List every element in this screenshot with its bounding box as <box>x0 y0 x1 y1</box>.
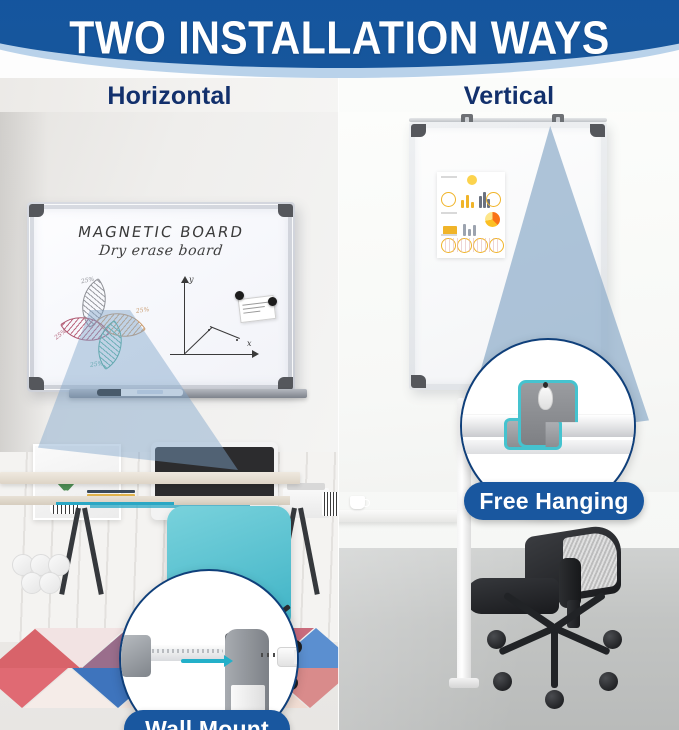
graph-x-label: x <box>247 339 252 348</box>
rail-end-cap <box>121 635 151 677</box>
corner-bracket <box>411 375 426 388</box>
subtitle-horizontal: Horizontal <box>0 82 339 111</box>
sun-graphic-icon <box>467 175 477 185</box>
magnet-icon <box>235 291 244 300</box>
graph-x-arrow-icon <box>252 350 259 358</box>
label-wall-mount[interactable]: Wall Mount <box>124 710 290 730</box>
whiteboard-handwriting-subtitle: Dry erase board <box>33 243 289 259</box>
corner-bracket <box>29 204 44 217</box>
subtitle-vertical: Vertical <box>339 82 679 111</box>
hook-screw-icon <box>538 386 553 410</box>
easel-pole-foot <box>449 678 479 688</box>
infographic-stage: TWO INSTALLATION WAYS Horizontal MAGNETI… <box>0 0 679 730</box>
corner-bracket <box>29 377 44 390</box>
graph-y-arrow-icon <box>181 276 189 283</box>
magnet-icon <box>268 297 277 306</box>
infographic-poster <box>437 172 505 258</box>
corner-bracket <box>411 124 426 137</box>
whiteboard-handwriting-title: MAGNETIC BOARD <box>33 223 290 241</box>
desk-top <box>0 472 300 484</box>
pie-label-3: 25% <box>53 328 68 342</box>
pencil-jar <box>322 492 339 516</box>
chair-caster-base <box>481 628 631 718</box>
panels-container: Horizontal MAGNETIC BOARD Dry erase boar… <box>0 78 679 730</box>
paper-rolls <box>12 554 74 596</box>
graph-x-axis <box>170 354 256 355</box>
side-desk <box>339 510 459 522</box>
panel-vertical: Vertical <box>339 78 679 730</box>
graph-y-axis <box>184 281 185 355</box>
ellipsis-icon <box>261 653 275 657</box>
corner-bracket <box>278 204 293 217</box>
corner-bracket <box>590 124 605 137</box>
panel-horizontal: Horizontal MAGNETIC BOARD Dry erase boar… <box>0 78 339 730</box>
coffee-mug <box>350 496 365 509</box>
graph-point <box>236 339 238 341</box>
graph-point <box>208 329 210 331</box>
page-title: TWO INSTALLATION WAYS <box>0 12 679 65</box>
graph-line-falling <box>210 326 240 339</box>
insert-arrow-icon <box>181 659 227 663</box>
poster-pie-icon <box>485 212 500 227</box>
graph-y-label: y <box>189 275 194 284</box>
label-free-hanging[interactable]: Free Hanging <box>464 482 644 520</box>
header-banner: TWO INSTALLATION WAYS <box>0 0 679 78</box>
poster-trend-line <box>442 238 500 252</box>
pie-label-2: 25% <box>136 306 150 315</box>
wall-anchor-screw <box>277 647 299 667</box>
